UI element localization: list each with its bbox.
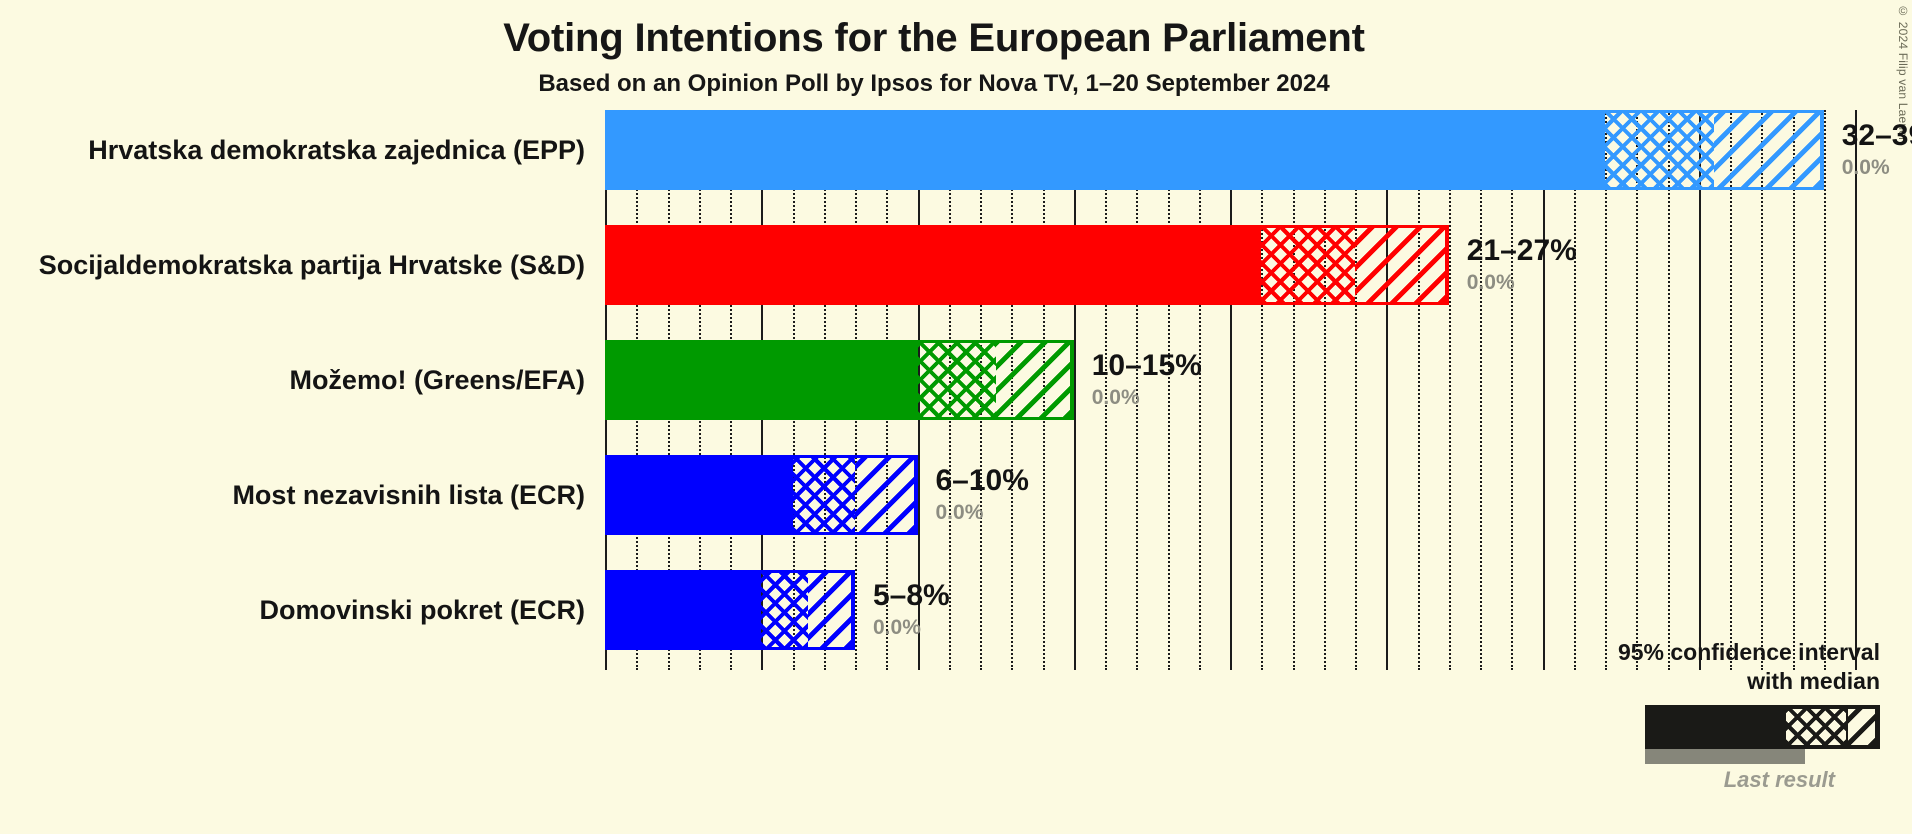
value-annotation: 6–10%0.0% (936, 463, 1029, 527)
bar-segment-crosshatch (761, 570, 808, 650)
page-title: Voting Intentions for the European Parli… (0, 16, 1868, 61)
last-result-label: 0.0% (1092, 384, 1202, 412)
confidence-interval-bar (605, 340, 1074, 420)
legend-title-line2: with median (1580, 667, 1880, 696)
last-result-label: 0.0% (873, 614, 950, 642)
party-label: Domovinski pokret (ECR) (0, 570, 585, 650)
value-annotation: 21–27%0.0% (1467, 233, 1577, 297)
legend-crosshatch-segment (1786, 709, 1846, 745)
chart-row: Socijaldemokratska partija Hrvatske (S&D… (0, 225, 1912, 305)
legend-title-line1: 95% confidence interval (1580, 638, 1880, 667)
chart-row: Možemo! (Greens/EFA)10–15%0.0% (0, 340, 1912, 420)
bar-segment-solid (605, 455, 793, 535)
bar-segment-diagonal-hatch (996, 340, 1074, 420)
last-result-label: 0.0% (1842, 154, 1912, 182)
chart-row: Most nezavisnih lista (ECR)6–10%0.0% (0, 455, 1912, 535)
confidence-interval-bar (605, 225, 1449, 305)
legend-interval-swatch (1645, 705, 1880, 749)
party-label: Socijaldemokratska partija Hrvatske (S&D… (0, 225, 585, 305)
bar-segment-solid (605, 225, 1261, 305)
bar-segment-solid (605, 570, 761, 650)
value-annotation: 5–8%0.0% (873, 578, 950, 642)
confidence-interval-bar (605, 455, 918, 535)
value-annotation: 10–15%0.0% (1092, 348, 1202, 412)
page-subtitle: Based on an Opinion Poll by Ipsos for No… (0, 70, 1868, 98)
chart-canvas: Voting Intentions for the European Parli… (0, 0, 1912, 834)
party-label: Hrvatska demokratska zajednica (EPP) (0, 110, 585, 190)
bar-segment-crosshatch (1605, 110, 1714, 190)
value-range-label: 10–15% (1092, 348, 1202, 384)
party-label: Možemo! (Greens/EFA) (0, 340, 585, 420)
bar-segment-solid (605, 340, 918, 420)
legend-diagonal-hatch-segment (1848, 709, 1876, 745)
chart-row: Hrvatska demokratska zajednica (EPP)32–3… (0, 110, 1912, 190)
legend-last-result-swatch (1645, 749, 1805, 764)
bar-segment-crosshatch (1261, 225, 1355, 305)
value-range-label: 21–27% (1467, 233, 1577, 269)
last-result-label: 0.0% (1467, 269, 1577, 297)
bar-segment-diagonal-hatch (855, 455, 918, 535)
chart-legend: 95% confidence interval with median Last… (1580, 638, 1880, 796)
bar-segment-diagonal-hatch (808, 570, 855, 650)
last-result-label: 0.0% (936, 499, 1029, 527)
bar-segment-diagonal-hatch (1355, 225, 1449, 305)
confidence-interval-bar (605, 110, 1824, 190)
bar-segment-diagonal-hatch (1714, 110, 1823, 190)
party-label: Most nezavisnih lista (ECR) (0, 455, 585, 535)
value-range-label: 5–8% (873, 578, 950, 614)
value-range-label: 32–39% (1842, 118, 1912, 154)
confidence-interval-bar (605, 570, 855, 650)
value-annotation: 32–39%0.0% (1842, 118, 1912, 182)
value-range-label: 6–10% (936, 463, 1029, 499)
bar-segment-crosshatch (918, 340, 996, 420)
legend-last-result-label: Last result (1580, 764, 1880, 796)
bar-segment-crosshatch (793, 455, 856, 535)
bar-segment-solid (605, 110, 1605, 190)
